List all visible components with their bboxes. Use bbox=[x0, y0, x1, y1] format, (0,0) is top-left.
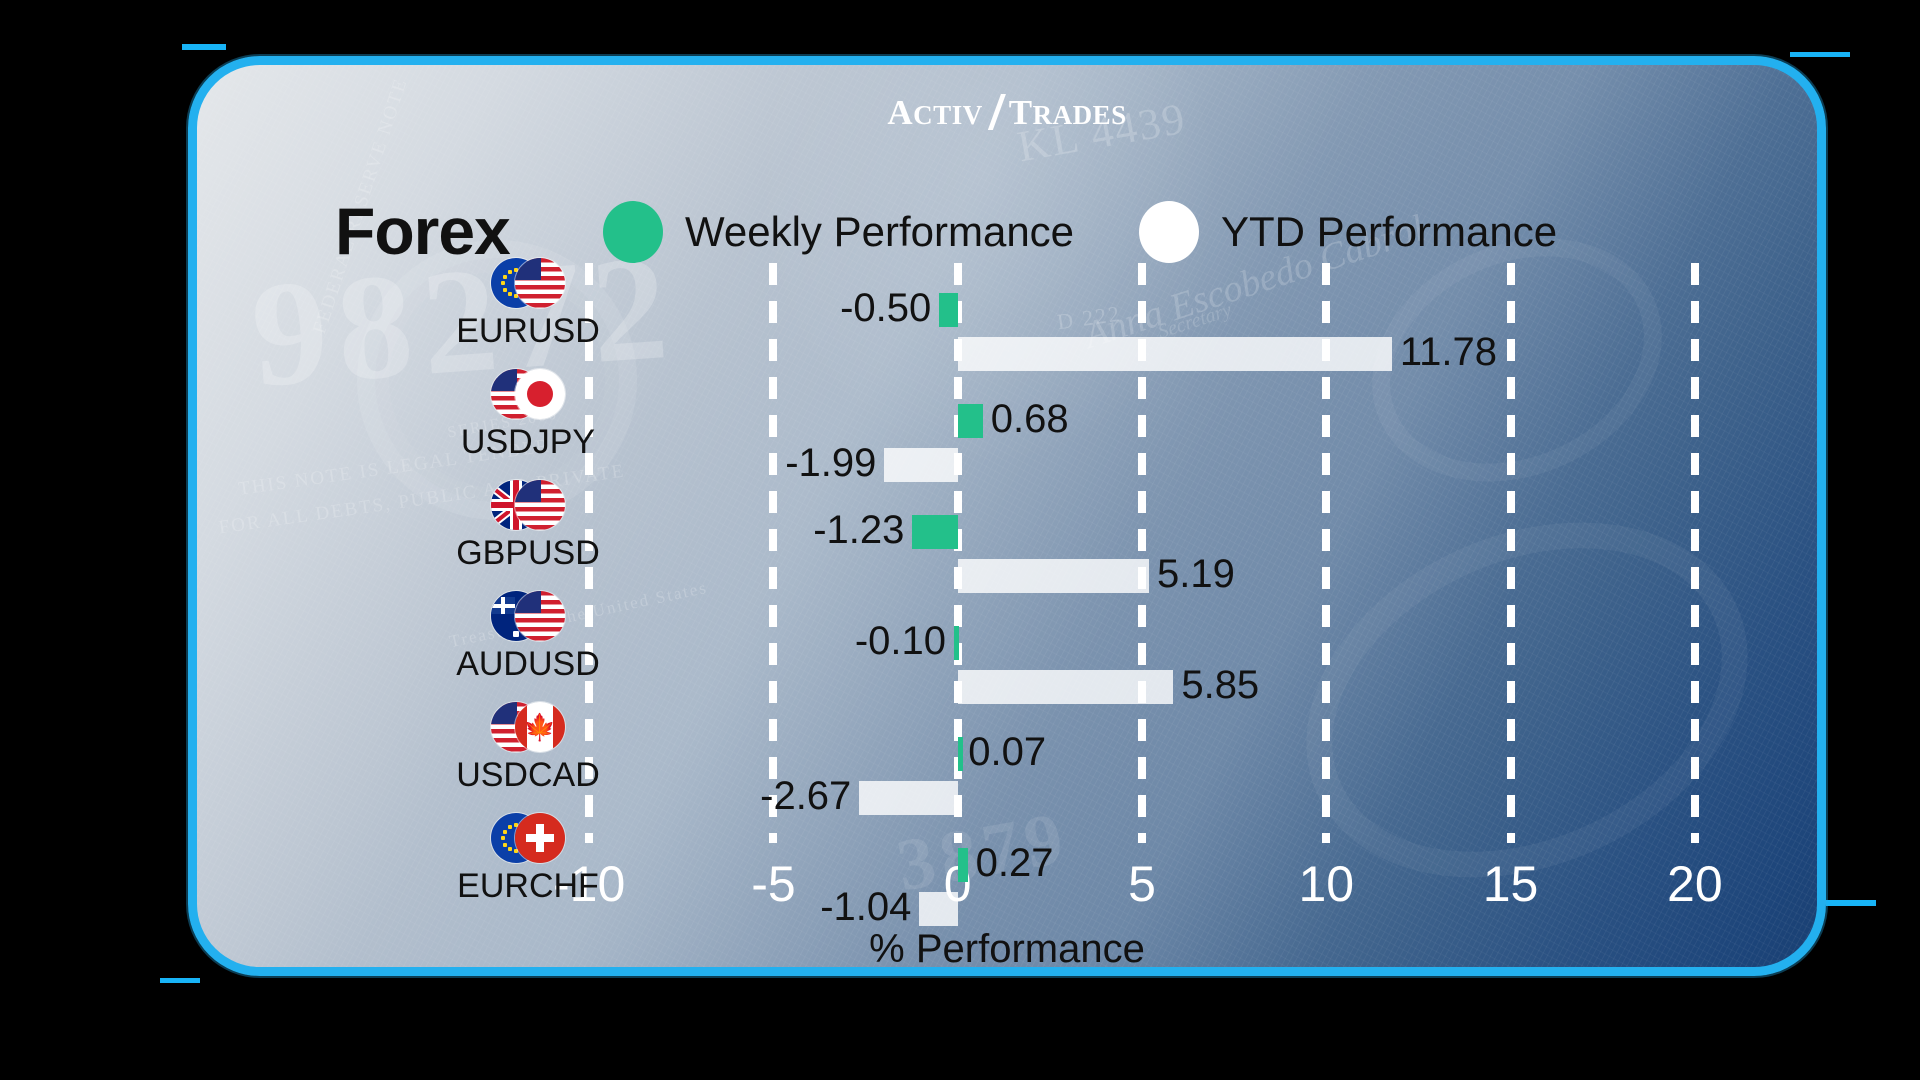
x-axis-tick: 10 bbox=[1298, 855, 1354, 913]
logo-text-trades: TRADES bbox=[1009, 93, 1127, 133]
value-label-gbpusd-ytd: 5.19 bbox=[1149, 557, 1235, 591]
category-name: EURCHF bbox=[398, 867, 658, 906]
edge-artifact bbox=[1790, 52, 1850, 57]
legend-dot-ytd bbox=[1139, 201, 1199, 263]
category-name: USDCAD bbox=[398, 756, 658, 795]
bar-gbpusd-ytd[interactable] bbox=[958, 559, 1149, 593]
flag-pair-gbpusd bbox=[491, 480, 565, 532]
value-label-audusd-ytd: 5.85 bbox=[1173, 668, 1259, 702]
logo-slash-icon bbox=[986, 96, 1008, 130]
legend-dot-weekly bbox=[603, 201, 663, 263]
value-label-audusd-weekly: -0.10 bbox=[855, 624, 954, 658]
edge-artifact bbox=[160, 978, 200, 983]
bar-audusd-weekly[interactable] bbox=[954, 626, 959, 660]
chart-header: Forex Weekly Performance YTD Performance bbox=[197, 193, 1817, 273]
ca-flag-icon: 🍁 bbox=[515, 702, 565, 752]
bar-eurchf-weekly[interactable] bbox=[958, 848, 968, 882]
value-label-eurchf-weekly: 0.27 bbox=[968, 846, 1054, 880]
bar-eurchf-ytd[interactable] bbox=[919, 892, 957, 926]
gridline bbox=[769, 263, 777, 843]
edge-artifact bbox=[182, 44, 226, 50]
flag-pair-usdjpy bbox=[491, 369, 565, 421]
flag-pair-usdcad: 🍁 bbox=[491, 702, 565, 754]
legend-item-weekly[interactable]: Weekly Performance bbox=[603, 201, 1074, 263]
jp-flag-icon bbox=[515, 369, 565, 419]
page-title: Forex bbox=[335, 193, 510, 269]
chart-card: 98272 3879 FEDERAL RESERVE NOTE THIS NOT… bbox=[188, 56, 1826, 976]
value-label-usdjpy-ytd: -1.99 bbox=[785, 446, 884, 480]
legend-item-ytd[interactable]: YTD Performance bbox=[1139, 201, 1557, 263]
bar-eurusd-ytd[interactable] bbox=[958, 337, 1392, 371]
value-label-usdjpy-weekly: 0.68 bbox=[983, 402, 1069, 436]
bar-usdjpy-weekly[interactable] bbox=[958, 404, 983, 438]
us-flag-icon bbox=[515, 480, 565, 530]
bar-gbpusd-weekly[interactable] bbox=[912, 515, 957, 549]
category-label-audusd: AUDUSD bbox=[398, 591, 658, 684]
screenshot-root: 98272 3879 FEDERAL RESERVE NOTE THIS NOT… bbox=[0, 0, 1920, 1080]
category-name: GBPUSD bbox=[398, 534, 658, 573]
flag-pair-eurchf bbox=[491, 813, 565, 865]
legend-label-ytd: YTD Performance bbox=[1221, 208, 1557, 256]
activtrades-logo: ACTIV TRADES bbox=[887, 93, 1126, 133]
category-label-usdcad: 🍁USDCAD bbox=[398, 702, 658, 795]
category-name: USDJPY bbox=[398, 423, 658, 462]
x-axis-tick: -5 bbox=[751, 855, 795, 913]
value-label-usdcad-ytd: -2.67 bbox=[760, 779, 859, 813]
category-label-gbpusd: GBPUSD bbox=[398, 480, 658, 573]
category-name: EURUSD bbox=[398, 312, 658, 351]
edge-artifact bbox=[1826, 900, 1876, 906]
value-label-eurusd-weekly: -0.50 bbox=[840, 291, 939, 325]
value-label-eurusd-ytd: 11.78 bbox=[1392, 335, 1497, 369]
bar-audusd-ytd[interactable] bbox=[958, 670, 1174, 704]
x-axis-tick: 20 bbox=[1667, 855, 1723, 913]
bar-usdjpy-ytd[interactable] bbox=[884, 448, 957, 482]
logo-text-activ: ACTIV bbox=[887, 93, 982, 133]
gridline bbox=[1691, 263, 1699, 843]
bar-usdcad-ytd[interactable] bbox=[859, 781, 957, 815]
value-label-eurchf-ytd: -1.04 bbox=[820, 890, 919, 924]
ch-flag-icon bbox=[515, 813, 565, 863]
legend-label-weekly: Weekly Performance bbox=[685, 208, 1074, 256]
flag-pair-audusd bbox=[491, 591, 565, 643]
value-label-usdcad-weekly: 0.07 bbox=[960, 735, 1046, 769]
bar-eurusd-weekly[interactable] bbox=[939, 293, 957, 327]
x-axis-tick: 5 bbox=[1128, 855, 1156, 913]
gridline bbox=[1507, 263, 1515, 843]
value-label-gbpusd-weekly: -1.23 bbox=[813, 513, 912, 547]
x-axis-tick: 15 bbox=[1483, 855, 1539, 913]
us-flag-icon bbox=[515, 591, 565, 641]
category-name: AUDUSD bbox=[398, 645, 658, 684]
category-label-usdjpy: USDJPY bbox=[398, 369, 658, 462]
category-label-eurchf: EURCHF bbox=[398, 813, 658, 906]
